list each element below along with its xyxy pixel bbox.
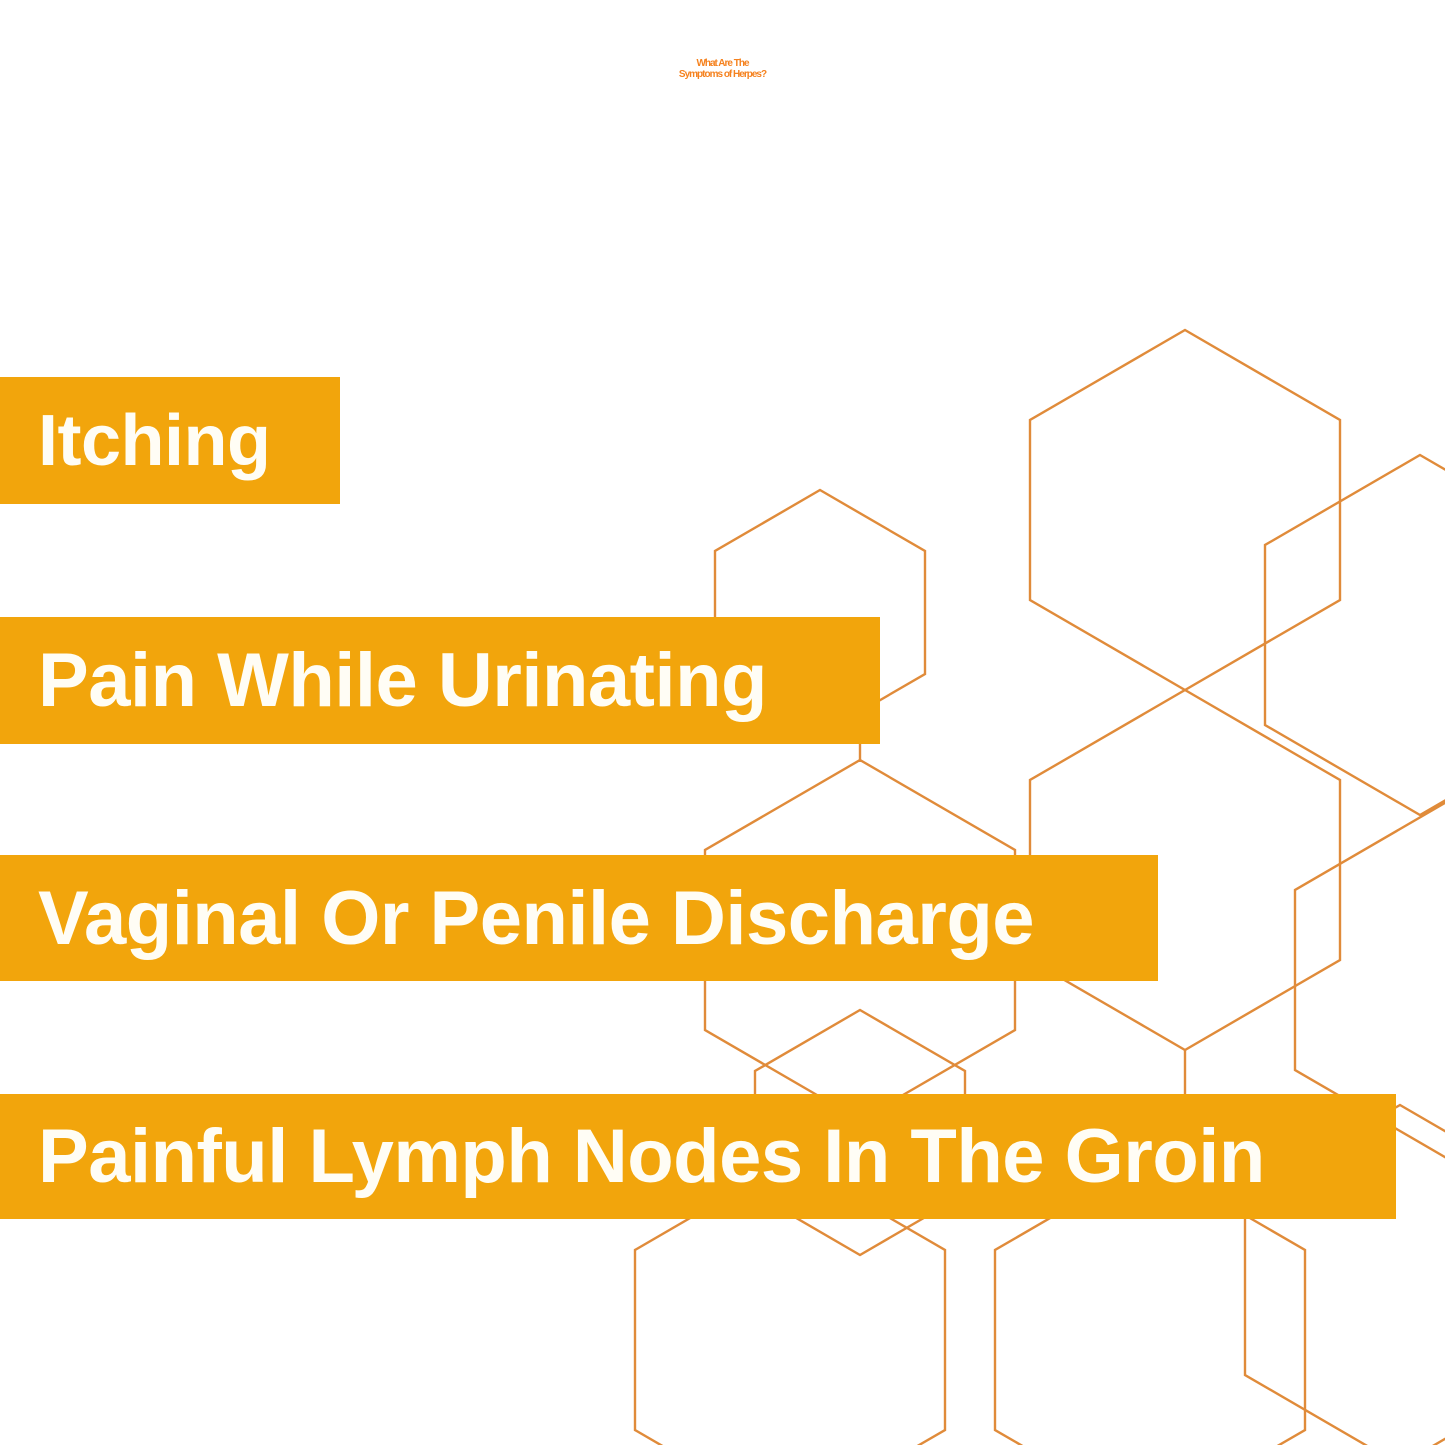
symptom-bar-pain-while-urinating: Pain While Urinating [0,617,880,744]
symptom-bar-painful-lymph-nodes: Painful Lymph Nodes In The Groin [0,1094,1396,1219]
symptom-bar-itching: Itching [0,377,340,504]
page-title-line-1: What Are The [0,58,1445,69]
symptom-label: Pain While Urinating [0,637,767,724]
symptom-label: Painful Lymph Nodes In The Groin [0,1113,1265,1200]
page-title-line-2: Symptoms of Herpes? [0,69,1445,80]
page-title: What Are The Symptoms of Herpes? [0,58,1445,80]
hexagon-shape [1265,455,1445,815]
symptom-label: Vaginal Or Penile Discharge [0,875,1034,962]
symptom-bar-vaginal-or-penile-discharge: Vaginal Or Penile Discharge [0,855,1158,981]
infographic-canvas: What Are The Symptoms of Herpes? Itching… [0,0,1445,1445]
hexagon-shape [1030,330,1340,690]
symptom-label: Itching [0,400,270,482]
